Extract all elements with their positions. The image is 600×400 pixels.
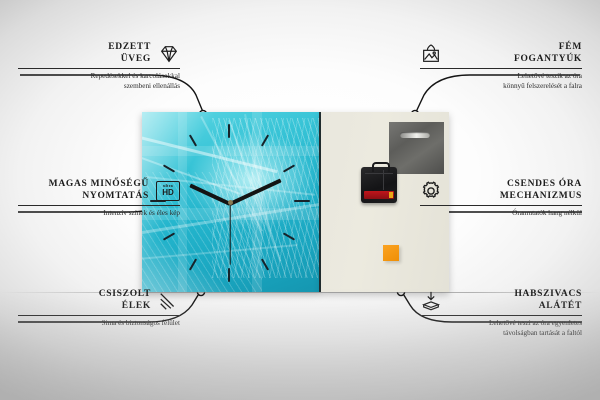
- feature-desc-line2: távolságban tartását a faltól: [420, 329, 582, 339]
- feature-desc-line1: Lehetővé teszik az óra: [420, 72, 582, 82]
- feature-divider: [420, 315, 582, 316]
- feature-title-line1: EDZETT: [108, 42, 151, 54]
- metal-hanger: [389, 122, 444, 174]
- feature-desc-line1: Óramutatók hang nélkül: [420, 209, 582, 219]
- feature-desc-line1: Sima és biztonságos felület: [18, 319, 180, 329]
- feature-desc-line2: könnyű felszerelését a falra: [420, 82, 582, 92]
- feature-high-quality-print: MAGAS MINŐSÉGŰ NYOMTATÁS ultra HD Intenz…: [18, 179, 180, 219]
- diamond-icon: [158, 43, 180, 65]
- feature-desc-line1: Repedésekkel és karcolásokkal: [18, 72, 180, 82]
- feature-divider: [18, 205, 180, 206]
- feature-divider: [420, 68, 582, 69]
- feature-divider: [420, 205, 582, 206]
- gear-icon: [420, 180, 442, 202]
- feature-title-line2: NYOMTATÁS: [49, 191, 149, 203]
- feature-title-line1: HABSZIVACS: [449, 289, 582, 301]
- clock-mechanism: [361, 167, 397, 203]
- feature-desc-line1: Lehetővé teszi az óra egyenletes: [420, 319, 582, 329]
- feature-divider: [18, 315, 180, 316]
- product-photo: [142, 112, 449, 292]
- feature-title-line2: MECHANIZMUS: [449, 191, 582, 203]
- feature-polished-edges: CSISZOLT ÉLEK Sima és biztonságos felüle…: [18, 289, 180, 329]
- foam-pad: [383, 245, 399, 261]
- feature-silent-clock-mechanism: CSENDES ÓRA MECHANIZMUS Óramutatók hang …: [420, 179, 582, 219]
- feature-title-line2: FOGANTYÚK: [449, 54, 582, 66]
- feature-title-line1: MAGAS MINŐSÉGŰ: [49, 179, 149, 191]
- feature-title-line1: FÉM: [449, 42, 582, 54]
- clock-second-hand: [229, 203, 230, 265]
- clock-center-hub: [228, 200, 233, 205]
- feature-metal-handles: FÉM FOGANTYÚK Lehetővé teszik az óra kön…: [420, 42, 582, 91]
- foam-pad-arrow-icon: [420, 290, 442, 312]
- polished-edges-icon: [158, 290, 180, 312]
- feature-title-line2: ÉLEK: [99, 301, 151, 313]
- feature-desc-line2: szembeni ellenállás: [18, 82, 180, 92]
- battery: [364, 191, 394, 199]
- feature-desc-line1: Intenzív színek és éles kép: [18, 209, 180, 219]
- feature-foam-pad: HABSZIVACS ALÁTÉT Lehetővé teszi az óra …: [420, 289, 582, 338]
- feature-divider: [18, 68, 180, 69]
- feature-title-line1: CSISZOLT: [99, 289, 151, 301]
- badge-hd-label: HD: [162, 189, 174, 197]
- feature-tempered-glass: EDZETT ÜVEG Repedésekkel és karcolásokka…: [18, 42, 180, 91]
- feature-title-line2: ÜVEG: [108, 54, 151, 66]
- picture-hanger-icon: [420, 43, 442, 65]
- infographic-canvas: EDZETT ÜVEG Repedésekkel és karcolásokka…: [0, 0, 600, 400]
- feature-title-line2: ALÁTÉT: [449, 301, 582, 313]
- feature-title-line1: CSENDES ÓRA: [449, 179, 582, 191]
- ultra-hd-badge-icon: ultra HD: [156, 181, 180, 201]
